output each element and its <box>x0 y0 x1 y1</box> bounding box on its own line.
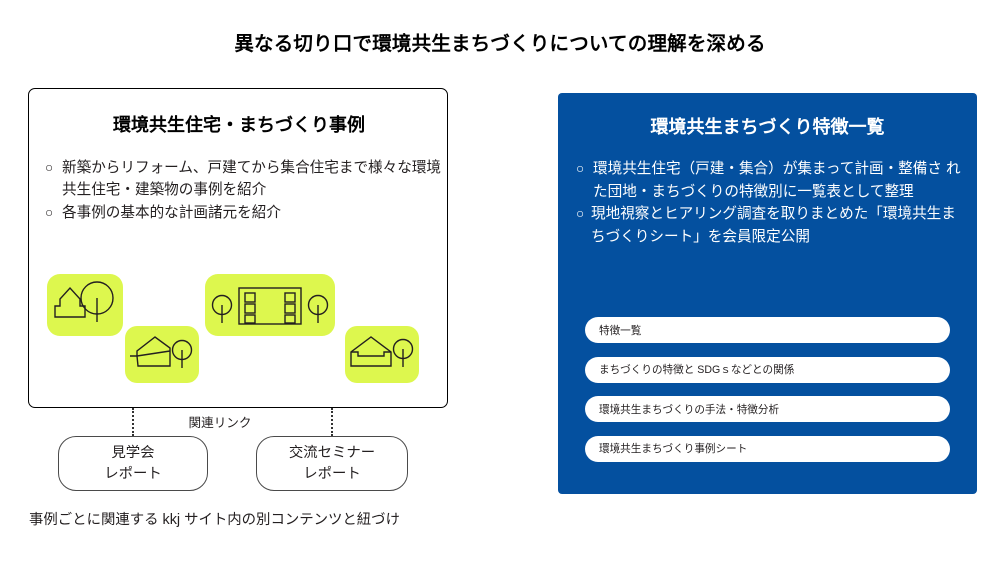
apartment-building-trees-icon <box>205 274 335 336</box>
gabled-house-tree-icon <box>345 326 419 383</box>
feature-link-case-sheet[interactable]: 環境共生まちづくり事例シート <box>585 436 950 462</box>
related-links-label: 関連リンク <box>160 412 280 431</box>
list-item-label: まちづくりの特徴と SDGｓなどとの関係 <box>599 362 794 377</box>
list-item-label: 環境共生住宅（戸建・集合）が集まって計画・整備さ れた団地・まちづくりの特徴別に… <box>593 158 966 203</box>
case-study-panel: 環境共生住宅・まちづくり事例 ○ 新築からリフォーム、戸建てから集合住宅まで様々… <box>28 88 448 408</box>
footer-caption: 事例ごとに関連する kkj サイト内の別コンテンツと紐づけ <box>29 508 400 529</box>
related-link-line2: レポート <box>104 464 162 484</box>
list-item-label: 環境共生まちづくり事例シート <box>599 441 747 456</box>
list-item: ○ 現地視察とヒアリング調査を取りまとめた「環境共生まちづくりシート」を会員限定… <box>576 203 966 248</box>
related-link-tour-report[interactable]: 見学会 レポート <box>58 436 208 491</box>
related-link-line1: 見学会 <box>104 443 162 463</box>
feature-bullet-list: ○ 環境共生住宅（戸建・集合）が集まって計画・整備さ れた団地・まちづくりの特徴… <box>576 158 966 248</box>
feature-link-method-analysis[interactable]: 環境共生まちづくりの手法・特徴分析 <box>585 396 950 422</box>
list-item: ○ 環境共生住宅（戸建・集合）が集まって計画・整備さ れた団地・まちづくりの特徴… <box>576 158 966 203</box>
circle-bullet-icon: ○ <box>576 158 593 180</box>
case-icon-group <box>29 89 449 409</box>
page-title: 異なる切り口で環境共生まちづくりについての理解を深める <box>0 27 1000 56</box>
feature-list-panel: 環境共生まちづくり特徴一覧 ○ 環境共生住宅（戸建・集合）が集まって計画・整備さ… <box>558 93 977 494</box>
related-link-seminar-report[interactable]: 交流セミナー レポート <box>256 436 408 491</box>
feature-link-overview[interactable]: 特徴一覧 <box>585 317 950 343</box>
list-item-label: 環境共生まちづくりの手法・特徴分析 <box>599 402 779 417</box>
angled-house-tree-icon <box>125 326 199 383</box>
circle-bullet-icon: ○ <box>576 203 591 225</box>
detached-house-large-tree-icon <box>47 274 123 336</box>
list-item-label: 特徴一覧 <box>599 323 641 338</box>
list-item-label: 現地視察とヒアリング調査を取りまとめた「環境共生まちづくりシート」を会員限定公開 <box>591 203 966 248</box>
related-link-line1: 交流セミナー <box>289 443 375 463</box>
connector-line <box>331 408 333 436</box>
slide-canvas: 異なる切り口で環境共生まちづくりについての理解を深める 環境共生住宅・まちづくり… <box>0 0 1000 563</box>
related-link-line2: レポート <box>289 464 375 484</box>
feature-link-sdgs-relation[interactable]: まちづくりの特徴と SDGｓなどとの関係 <box>585 357 950 383</box>
feature-link-list: 特徴一覧 まちづくりの特徴と SDGｓなどとの関係 環境共生まちづくりの手法・特… <box>585 317 950 475</box>
connector-line <box>132 408 134 436</box>
feature-list-panel-title: 環境共生まちづくり特徴一覧 <box>558 113 977 139</box>
